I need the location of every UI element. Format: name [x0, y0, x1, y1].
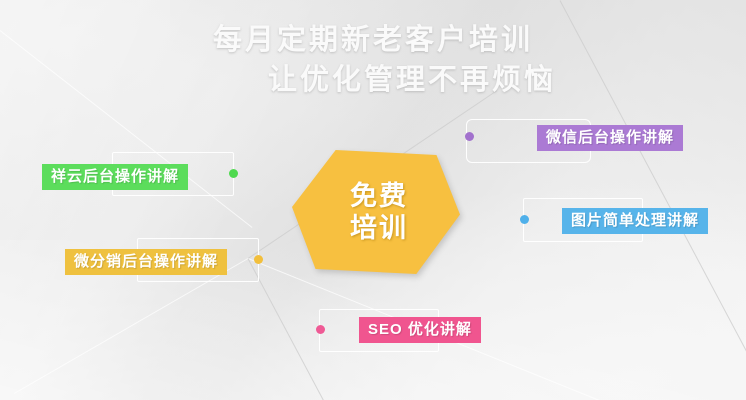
headline-line-1: 每月定期新老客户培训 [0, 20, 746, 60]
free-training-hexagon[interactable]: 免费 培训 [292, 150, 460, 274]
node-label-xiangyun-backend[interactable]: 祥云后台操作讲解 [42, 164, 188, 190]
hexagon-shape: 免费 培训 [292, 150, 460, 274]
hexagon-label-line-1: 免费 [344, 180, 408, 212]
headline-line-2: 让优化管理不再烦恼 [0, 60, 746, 100]
node-dot-pink [316, 325, 325, 334]
node-dot-green [229, 169, 238, 178]
node-dot-orange [254, 255, 263, 264]
node-label-image-processing[interactable]: 图片简单处理讲解 [562, 208, 708, 234]
training-promo-banner: 每月定期新老客户培训 让优化管理不再烦恼 免费 培训 祥云后台操作讲解 微信后台… [0, 0, 746, 400]
node-label-micro-distribution-backend[interactable]: 微分销后台操作讲解 [65, 249, 227, 275]
page-title: 每月定期新老客户培训 让优化管理不再烦恼 [0, 20, 746, 100]
node-dot-blue [520, 215, 529, 224]
node-label-wechat-backend[interactable]: 微信后台操作讲解 [537, 125, 683, 151]
node-dot-purple [465, 132, 474, 141]
hexagon-label-line-2: 培训 [344, 212, 408, 244]
node-label-seo-optimization[interactable]: SEO 优化讲解 [359, 317, 481, 343]
